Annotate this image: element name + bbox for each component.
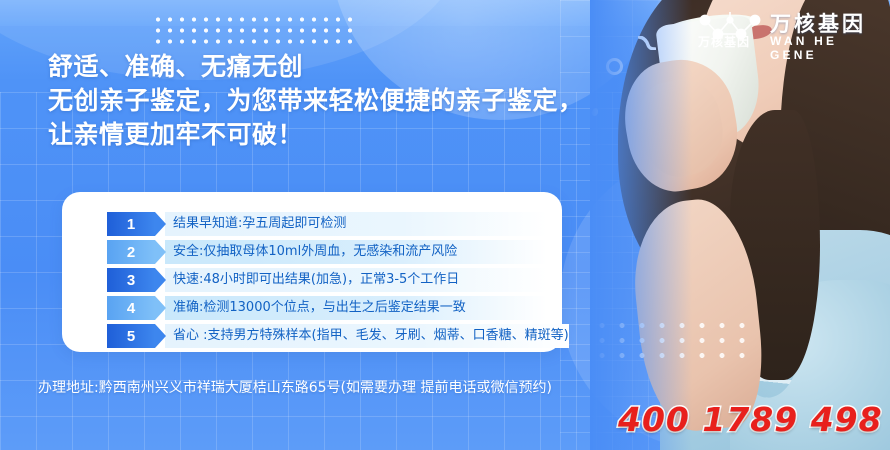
brand-logo[interactable]: 万核基因 万核基因 WAN HE GENE [694,6,884,54]
feature-number: 4 [107,296,155,320]
feature-text: 结果早知道:孕五周起即可检测 [165,212,547,236]
feature-number: 5 [107,324,155,348]
features-card: 1结果早知道:孕五周起即可检测2安全:仅抽取母体10ml外周血，无感染和流产风险… [62,192,562,352]
arrow-right-icon [155,296,166,320]
arrow-right-icon [155,240,166,264]
arrow-right-icon [155,268,166,292]
headline-line-3: 让亲情更加牢不可破！ [48,118,584,152]
feature-number-badge: 1 [107,212,165,236]
feature-number: 1 [107,212,155,236]
feature-text: 准确:检测13000个位点，与出生之后鉴定结果一致 [165,296,547,320]
feature-number: 2 [107,240,155,264]
features-list: 1结果早知道:孕五周起即可检测2安全:仅抽取母体10ml外周血，无感染和流产风险… [107,212,547,348]
feature-text: 快速:48小时即可出结果(加急)，正常3-5个工作日 [165,268,547,292]
logo-mark-label: 万核基因 [698,33,750,50]
feature-number: 3 [107,268,155,292]
feature-number-badge: 2 [107,240,165,264]
dot-grid-top-icon [152,14,352,44]
feature-text: 安全:仅抽取母体10ml外周血，无感染和流产风险 [165,240,547,264]
headline-line-1: 舒适、准确、无痛无创 [48,50,584,84]
arrow-right-icon [155,212,166,236]
feature-row: 5省心 :支持男方特殊样本(指甲、毛发、牙刷、烟蒂、口香糖、精斑等) [107,324,547,348]
feature-text: 省心 :支持男方特殊样本(指甲、毛发、牙刷、烟蒂、口香糖、精斑等) [165,324,569,348]
logo-name-en: WAN HE GENE [770,34,884,62]
feature-number-badge: 5 [107,324,165,348]
feature-row: 3快速:48小时即可出结果(加急)，正常3-5个工作日 [107,268,547,292]
arrow-right-icon [155,324,166,348]
promo-banner: 万核基因 万核基因 WAN HE GENE 舒适、准确、无痛无创 无创亲子鉴定，… [0,0,890,450]
feature-row: 2安全:仅抽取母体10ml外周血，无感染和流产风险 [107,240,547,264]
headline-line-2: 无创亲子鉴定，为您带来轻松便捷的亲子鉴定， [48,84,584,118]
feature-row: 4准确:检测13000个位点，与出生之后鉴定结果一致 [107,296,547,320]
headline: 舒适、准确、无痛无创 无创亲子鉴定，为您带来轻松便捷的亲子鉴定， 让亲情更加牢不… [48,50,584,152]
hotline-phone-number[interactable]: 400 1789 498 [618,400,883,439]
feature-row: 1结果早知道:孕五周起即可检测 [107,212,547,236]
pregnant-woman-photo [590,0,890,450]
feature-number-badge: 4 [107,296,165,320]
feature-number-badge: 3 [107,268,165,292]
office-address: 办理地址:黔西南州兴义市祥瑞大厦桔山东路65号(如需要办理 提前电话或微信预约) [38,377,552,397]
